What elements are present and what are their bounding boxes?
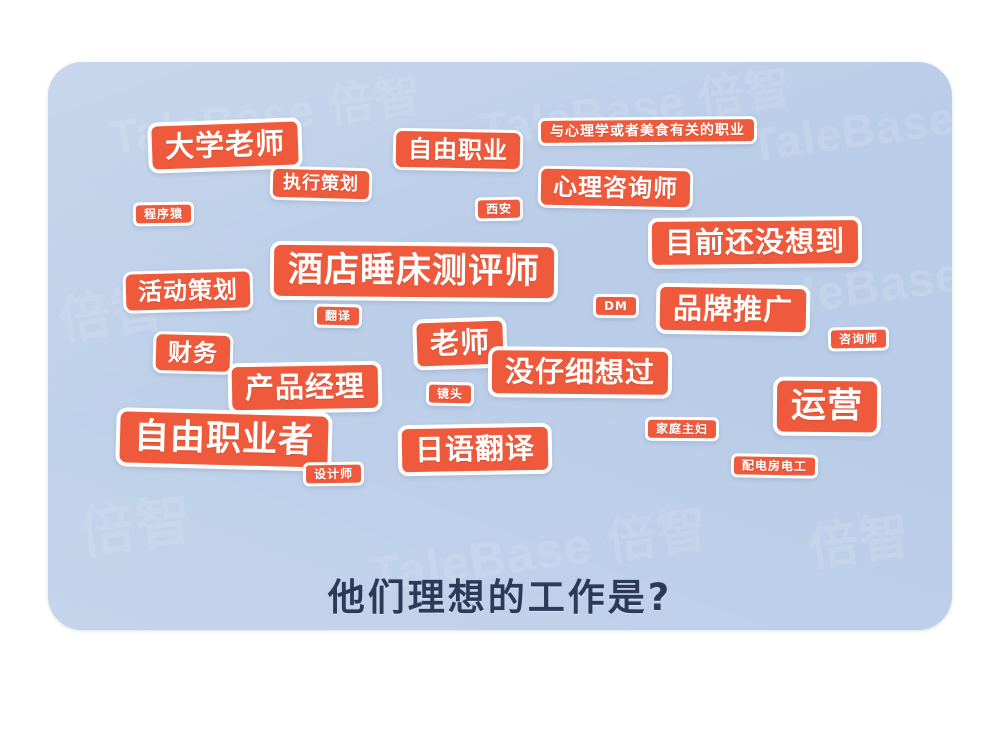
job-tag[interactable]: 家庭主妇 (645, 417, 719, 442)
brand-name-cn: 倍智 (237, 628, 277, 630)
job-tag[interactable]: 没仔细想过 (488, 346, 672, 399)
job-tag[interactable]: 产品经理 (228, 361, 383, 415)
job-tag[interactable]: 咨询师 (828, 326, 889, 351)
job-tag[interactable]: 设计师 (303, 461, 364, 486)
job-tag[interactable]: 与心理学或者美食有关的职业 (538, 116, 757, 146)
job-tag[interactable]: 执行策划 (270, 166, 373, 203)
job-tag[interactable]: 财务 (152, 331, 233, 375)
job-tag[interactable]: 心理咨询师 (538, 166, 694, 211)
word-cloud-card: TaleBase 倍智TaleBase 倍智TaleBase 倍智倍智TaleB… (48, 62, 952, 630)
job-tag-cloud: 大学老师执行策划程序猿自由职业与心理学或者美食有关的职业心理咨询师西安目前还没想… (48, 62, 952, 630)
job-tag[interactable]: 活动策划 (122, 268, 253, 313)
job-tag[interactable]: 日语翻译 (398, 423, 553, 477)
job-tag[interactable]: 翻译 (314, 304, 362, 329)
job-tag[interactable]: 西安 (475, 197, 523, 222)
job-tag[interactable]: 程序猿 (133, 201, 194, 226)
poster-canvas: TaleBase 倍智TaleBase 倍智TaleBase 倍智倍智TaleB… (0, 0, 1000, 750)
job-tag[interactable]: 配电房电工 (731, 453, 818, 479)
job-tag[interactable]: 运营 (773, 377, 882, 437)
brand-name-row: TaleBase 倍智 ® (143, 628, 289, 630)
page-title: 他们理想的工作是? (48, 567, 952, 621)
job-tag[interactable]: 目前还没想到 (648, 216, 862, 269)
job-tag[interactable]: 自由职业 (393, 128, 524, 172)
job-tag[interactable]: 品牌推广 (656, 283, 811, 337)
job-tag[interactable]: 镜头 (426, 382, 474, 407)
job-tag[interactable]: DM (593, 294, 639, 318)
job-tag[interactable]: 酒店睡床测评师 (270, 241, 559, 303)
brand-logo: TaleBase 倍智 ® 倍智人才 人才测评 (143, 628, 289, 630)
job-tag[interactable]: 自由职业者 (115, 407, 332, 472)
